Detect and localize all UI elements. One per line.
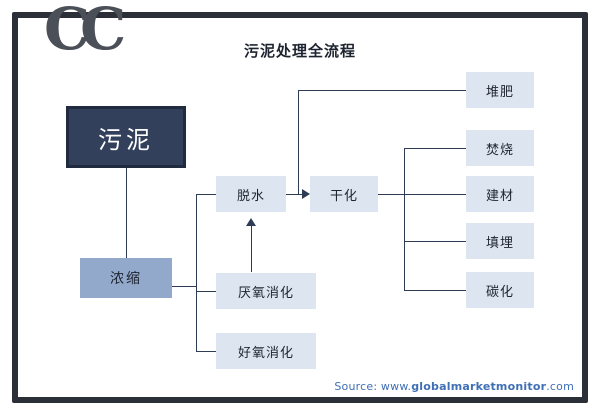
line-trunk-to-aerobic <box>196 351 216 352</box>
node-anaerobic[interactable]: 厌氧消化 <box>216 273 316 309</box>
node-landfill[interactable]: 填埋 <box>466 223 534 259</box>
node-sludge[interactable]: 污泥 <box>66 106 186 168</box>
page-title: 污泥处理全流程 <box>0 40 600 61</box>
node-carbonize-label: 碳化 <box>486 281 514 300</box>
node-drying-label: 干化 <box>330 185 358 204</box>
line-trunk-to-dewater <box>196 194 216 195</box>
line-bus-to-incinerate <box>404 148 466 149</box>
arrow-right-to-drying-icon <box>302 189 310 199</box>
line-drying-to-compost-vertical <box>298 90 299 194</box>
line-vertical-trunk <box>196 194 197 351</box>
line-drying-to-right-bus <box>378 194 404 195</box>
diagram-canvas: CC 污泥处理全流程 污泥 浓缩 脱水 厌氧消化 好氧消化 <box>0 0 600 415</box>
node-aerobic-label: 好氧消化 <box>238 342 294 361</box>
node-carbonize[interactable]: 碳化 <box>466 272 534 308</box>
source-suffix: .com <box>546 380 574 393</box>
source-attribution: Source: www.globalmarketmonitor.com <box>334 380 574 393</box>
node-compost-label: 堆肥 <box>486 81 514 100</box>
line-trunk-to-anaerobic <box>196 291 216 292</box>
line-bus-to-building <box>404 194 466 195</box>
node-compost[interactable]: 堆肥 <box>466 72 534 108</box>
source-prefix: Source: www. <box>334 380 411 393</box>
node-landfill-label: 填埋 <box>486 232 514 251</box>
node-anaerobic-label: 厌氧消化 <box>238 282 294 301</box>
line-bus-to-carbonize <box>404 290 466 291</box>
node-thicken-label: 浓缩 <box>110 268 142 288</box>
line-thicken-to-trunk <box>172 286 196 287</box>
node-dewater-label: 脱水 <box>237 185 265 204</box>
node-dewater[interactable]: 脱水 <box>216 176 286 212</box>
node-aerobic[interactable]: 好氧消化 <box>216 333 316 369</box>
node-drying[interactable]: 干化 <box>310 176 378 212</box>
arrow-up-to-dewater-icon <box>246 218 256 226</box>
line-bus-to-landfill <box>404 241 466 242</box>
line-dewater-to-drying <box>286 194 302 195</box>
node-thicken[interactable]: 浓缩 <box>80 258 172 298</box>
line-digestion-to-dewater <box>251 226 252 272</box>
node-building[interactable]: 建材 <box>466 176 534 212</box>
line-right-bus <box>404 148 405 290</box>
node-sludge-label: 污泥 <box>98 120 154 155</box>
node-incinerate-label: 焚烧 <box>486 139 514 158</box>
source-domain: globalmarketmonitor <box>411 380 546 393</box>
line-compost-horizontal <box>298 90 466 91</box>
node-incinerate[interactable]: 焚烧 <box>466 130 534 166</box>
line-sludge-to-thicken <box>126 168 127 258</box>
node-building-label: 建材 <box>486 185 514 204</box>
